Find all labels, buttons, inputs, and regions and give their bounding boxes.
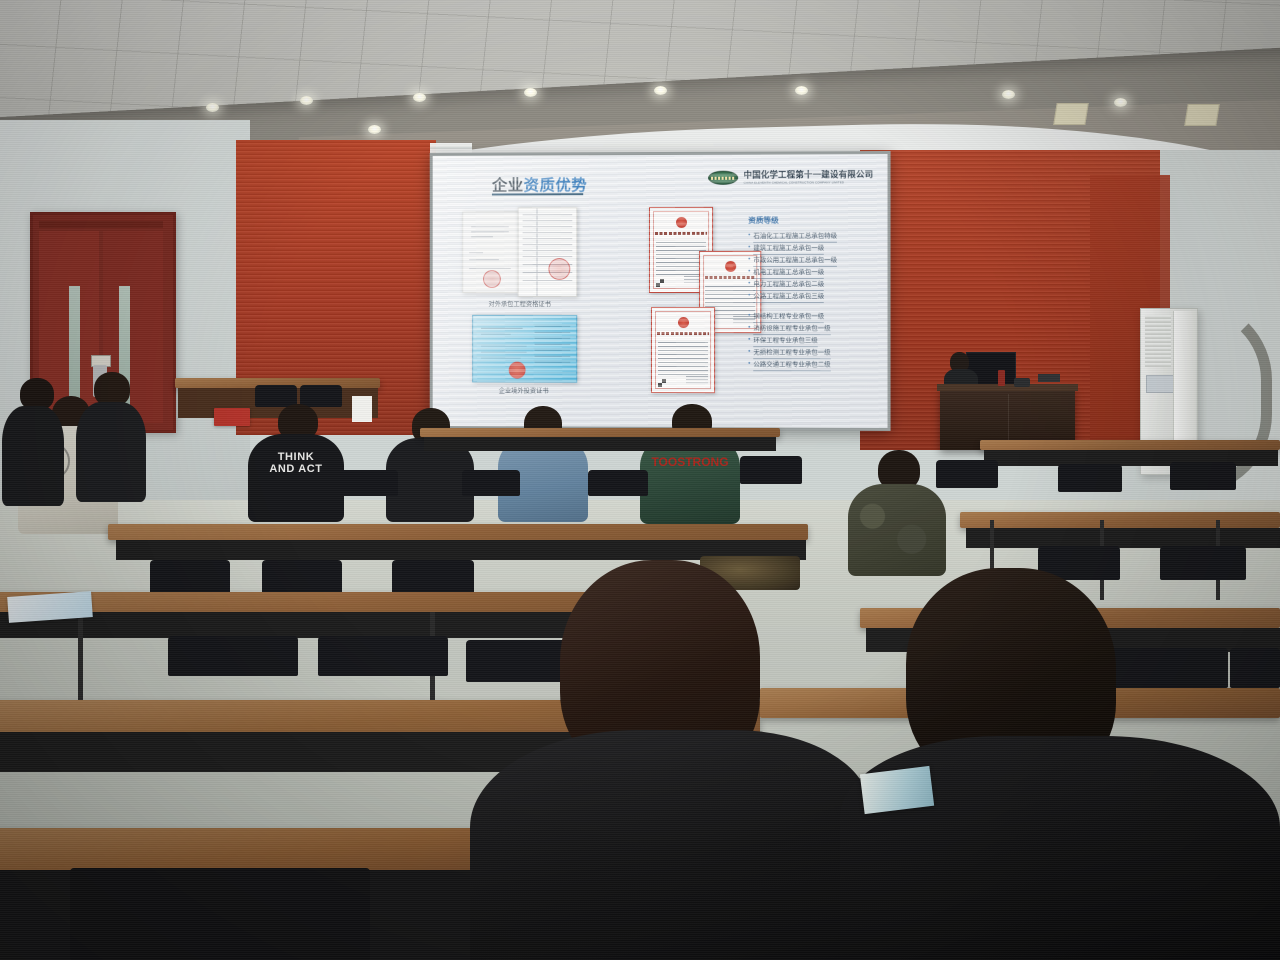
paper-sheet <box>352 396 372 422</box>
bullet-dot-icon: • <box>748 311 750 322</box>
chair <box>318 636 448 676</box>
downlight-icon <box>1114 98 1127 107</box>
booklet <box>860 766 934 814</box>
list-item: •公路工程施工总承包三级 <box>748 291 877 303</box>
podium-red-item <box>998 370 1005 386</box>
company-name-cn: 中国化学工程第十一建设有限公司 <box>744 171 874 180</box>
chair <box>70 868 370 960</box>
certificate-overseas-investment <box>472 315 577 383</box>
list-item: •建筑工程施工总承包一级 <box>748 243 877 255</box>
company-brand: 中国化学工程第十一建设有限公司 CHINA ELEVENTH CHEMICAL … <box>708 170 873 185</box>
foreground-person-left <box>470 560 880 960</box>
attendee-blue-jacket <box>498 406 588 516</box>
downlight-icon <box>524 88 537 97</box>
bullet-dot-icon: • <box>748 255 750 266</box>
list-item: •无损检测工程专业承包一级 <box>748 347 877 359</box>
chair <box>588 470 648 496</box>
attendee-think-and-act: THINKAND ACT <box>248 404 344 516</box>
attendee-left-dark-1 <box>2 378 72 508</box>
ceiling-troffer-light <box>1184 104 1219 126</box>
caption-foreign-contracting: 对外承包工程资格证书 <box>464 299 575 308</box>
bullet-dot-icon: • <box>748 231 750 242</box>
certificate-qualification-lower <box>651 307 715 393</box>
chair <box>462 470 520 496</box>
desk-skirt <box>424 437 776 451</box>
red-seal-icon <box>509 362 526 379</box>
downlight-icon <box>300 96 313 105</box>
slide-title: 企业资质优势 <box>492 173 587 195</box>
company-logo-icon <box>708 171 738 185</box>
red-seal-icon <box>676 217 687 228</box>
attendee-left-dark-2 <box>76 372 148 502</box>
desk-row-mid <box>108 524 808 540</box>
certificate-foreign-left <box>462 211 518 293</box>
projection-screen[interactable]: 企业资质优势 中国化学工程第十一建设有限公司 CHINA ELEVENTH CH… <box>430 151 891 431</box>
desk-leg <box>78 612 83 704</box>
bullet-dot-icon: • <box>748 323 750 334</box>
door-top-rail <box>39 221 163 228</box>
company-name-block: 中国化学工程第十一建设有限公司 CHINA ELEVENTH CHEMICAL … <box>744 171 874 185</box>
list-item: •公路交通工程专业承包二级 <box>748 359 877 371</box>
certificate-foreign-right <box>518 207 578 297</box>
company-name-en: CHINA ELEVENTH CHEMICAL CONSTRUCTION COM… <box>744 181 874 184</box>
podium-equipment <box>1014 378 1030 387</box>
ceiling-troffer-light <box>1053 103 1088 125</box>
slide-title-underline <box>492 193 583 195</box>
bullet-dot-icon: • <box>748 335 750 346</box>
red-seal-icon <box>678 317 689 328</box>
chair <box>1058 464 1122 492</box>
qualification-group-1: •石油化工工程施工总承包特级 •建筑工程施工总承包一级 •市政公用工程施工总承包… <box>748 231 877 304</box>
desk-row-far-right <box>980 440 1280 450</box>
podium-seam <box>1008 394 1009 446</box>
red-seal-icon <box>725 261 736 272</box>
slide-title-blue: 资质优势 <box>524 177 588 194</box>
downlight-icon <box>654 86 667 95</box>
ac-control-panel[interactable] <box>1146 375 1174 393</box>
bullet-dot-icon: • <box>748 347 750 358</box>
chair <box>168 636 298 676</box>
bullet-dot-icon: • <box>748 291 750 302</box>
red-box <box>214 408 250 426</box>
red-seal-icon <box>483 270 501 288</box>
attendee-camo <box>848 450 946 572</box>
chair <box>740 456 802 484</box>
slide-content: 企业资质优势 中国化学工程第十一建设有限公司 CHINA ELEVENTH CH… <box>433 154 888 428</box>
chair <box>340 470 398 496</box>
chair <box>262 560 342 594</box>
red-seal-icon <box>548 258 570 280</box>
slide-title-dark: 企业 <box>492 177 524 194</box>
list-item: •钢结构工程专业承包一级 <box>748 311 877 323</box>
caption-overseas-investment: 企业境外投资证书 <box>472 385 575 394</box>
chair <box>150 560 230 594</box>
projected-slide: 企业资质优势 中国化学工程第十一建设有限公司 CHINA ELEVENTH CH… <box>433 154 888 428</box>
attendee-dark-jacket-center <box>386 408 474 516</box>
qualification-list: 资质等级 •石油化工工程施工总承包特级 •建筑工程施工总承包一级 •市政公用工程… <box>748 214 877 379</box>
podium-keyboard <box>1038 374 1060 382</box>
attendee-toostrong: TOOSTRONG <box>640 404 740 520</box>
desk-skirt <box>966 528 1280 548</box>
chair <box>392 560 474 594</box>
qualification-group-2: •钢结构工程专业承包一级 •消防设施工程专业承包一级 •环保工程专业承包三级 •… <box>748 311 877 372</box>
qr-code-icon <box>656 279 664 287</box>
downlight-icon <box>795 86 808 95</box>
desk-row-mid-right <box>960 512 1280 528</box>
bullet-dot-icon: • <box>748 279 750 290</box>
chair <box>1170 462 1236 490</box>
downlight-icon <box>206 103 219 112</box>
list-item: •环保工程专业承包三级 <box>748 335 877 347</box>
downlight-icon <box>368 125 381 134</box>
list-item: •石油化工工程施工总承包特级 <box>748 231 877 243</box>
jacket-text: TOOSTRONG <box>640 456 740 469</box>
foreground-person-right <box>840 568 1280 960</box>
chair <box>936 460 998 488</box>
bullet-dot-icon: • <box>748 243 750 254</box>
bullet-dot-icon: • <box>748 267 750 278</box>
podium-top <box>937 384 1078 391</box>
jacket-text: THINKAND ACT <box>248 452 344 475</box>
qr-code-icon <box>658 379 666 387</box>
list-item: •电力工程施工总承包二级 <box>748 279 877 291</box>
classroom-photo: 企业资质优势 中国化学工程第十一建设有限公司 CHINA ELEVENTH CH… <box>0 0 1280 960</box>
list-item: •消防设施工程专业承包一级 <box>748 323 877 335</box>
downlight-icon <box>413 93 426 102</box>
bullet-dot-icon: • <box>748 359 750 370</box>
list-item: •市政公用工程施工总承包一级 <box>748 255 877 267</box>
downlight-icon <box>1002 90 1015 99</box>
qualification-list-heading: 资质等级 <box>748 214 877 225</box>
ac-grille <box>1145 315 1171 367</box>
desk-row-far <box>420 428 780 437</box>
list-item: •机电工程施工总承包一级 <box>748 267 877 279</box>
